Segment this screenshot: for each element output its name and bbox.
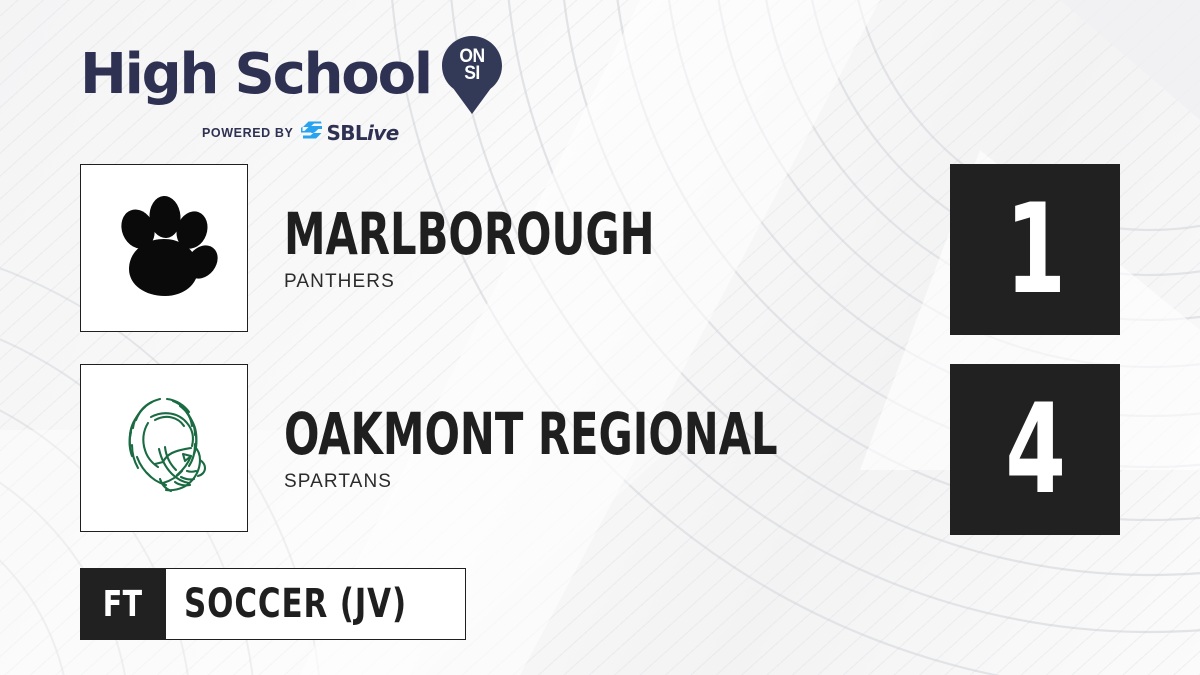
team-logo-box (80, 364, 248, 532)
paw-print-icon (105, 189, 223, 307)
pin-label-line2: SI (443, 65, 500, 82)
team-score: 4 (1006, 388, 1065, 512)
sblive-logo: SBLive (301, 120, 398, 145)
scoreboard-graphic: High School ON SI POWERED BY (0, 0, 1200, 675)
team-text: MARLBOROUGH PANTHERS (284, 203, 747, 293)
spartan-head-icon (103, 387, 225, 509)
sblive-word-part2: ive (367, 121, 399, 145)
game-status-bar: FT SOCCER (JV) (80, 568, 466, 640)
brand-subline: POWERED BY SBLive (80, 120, 510, 145)
team-logo-box (80, 164, 248, 332)
team-name: MARLBOROUGH (284, 203, 655, 265)
team-mascot: PANTHERS (284, 271, 747, 293)
status-flag-label: FT (103, 584, 143, 625)
sblive-word-part1: SBL (326, 121, 367, 145)
powered-by-label: POWERED BY (202, 126, 293, 140)
team-name: OAKMONT REGIONAL (284, 403, 778, 465)
brand-logo: High School ON SI POWERED BY (80, 36, 510, 145)
brand-row: High School ON SI (80, 36, 510, 114)
team-row: OAKMONT REGIONAL SPARTANS (80, 364, 901, 532)
status-title-label: SOCCER (JV) (184, 581, 407, 627)
sblive-wordmark: SBLive (326, 123, 398, 143)
team-score-box: 4 (950, 364, 1120, 535)
team-score: 1 (1006, 188, 1065, 312)
team-row: MARLBOROUGH PANTHERS (80, 164, 747, 332)
status-title-box: SOCCER (JV) (166, 568, 466, 640)
pin-label: ON SI (443, 48, 500, 82)
team-text: OAKMONT REGIONAL SPARTANS (284, 403, 901, 493)
team-score-box: 1 (950, 164, 1120, 335)
status-flag: FT (80, 568, 166, 640)
brand-wordmark: High School (80, 47, 431, 103)
sblive-s-icon (301, 120, 323, 145)
team-mascot: SPARTANS (284, 471, 901, 493)
map-pin-icon: ON SI (441, 36, 503, 114)
